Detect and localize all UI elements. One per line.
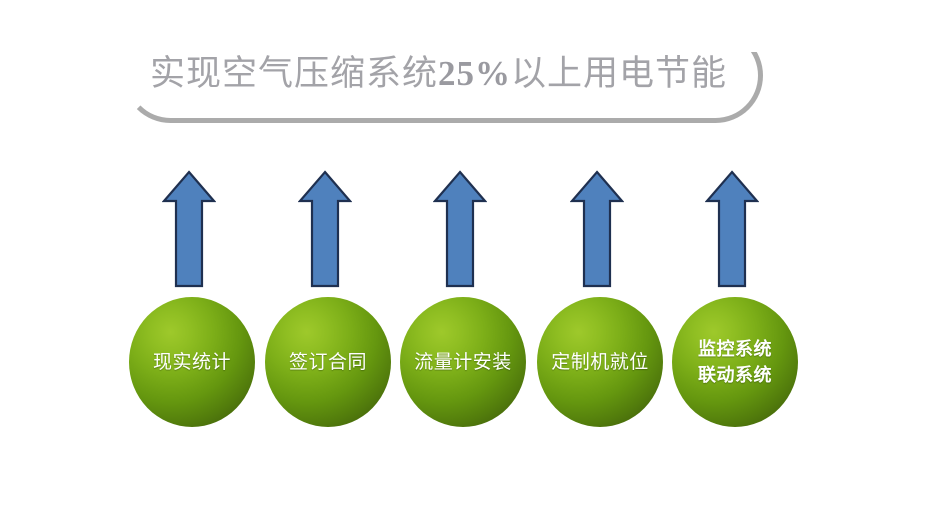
up-arrow-icon-5 <box>705 170 759 288</box>
up-arrow-icon-2 <box>298 170 352 288</box>
process-node-label-5: 监控系统 联动系统 <box>692 336 778 388</box>
process-node-3[interactable]: 流量计安装 <box>400 297 526 427</box>
process-node-5[interactable]: 监控系统 联动系统 <box>672 297 798 427</box>
title-prefix: 实现空气压缩系统 <box>150 54 438 93</box>
process-node-label-4: 定制机就位 <box>545 350 655 375</box>
process-node-label-2: 签订合同 <box>283 350 373 375</box>
process-node-2[interactable]: 签订合同 <box>265 297 391 427</box>
process-node-label-3: 流量计安装 <box>408 350 518 375</box>
process-node-1[interactable]: 现实统计 <box>129 297 255 427</box>
up-arrow-icon-3 <box>433 170 487 288</box>
title-suffix: 以上用电节能 <box>511 54 727 93</box>
up-arrow-icon-1 <box>162 170 216 288</box>
process-node-4[interactable]: 定制机就位 <box>537 297 663 427</box>
slide-canvas: 实现空气压缩系统25%以上用电节能 现实统计 签订合同 <box>0 0 945 529</box>
up-arrow-icon-4 <box>570 170 624 288</box>
process-node-label-1: 现实统计 <box>147 350 237 375</box>
page-title: 实现空气压缩系统25%以上用电节能 <box>150 48 730 100</box>
title-percent-highlight: 25% <box>438 54 511 93</box>
title-frame-left-fade <box>118 95 134 129</box>
